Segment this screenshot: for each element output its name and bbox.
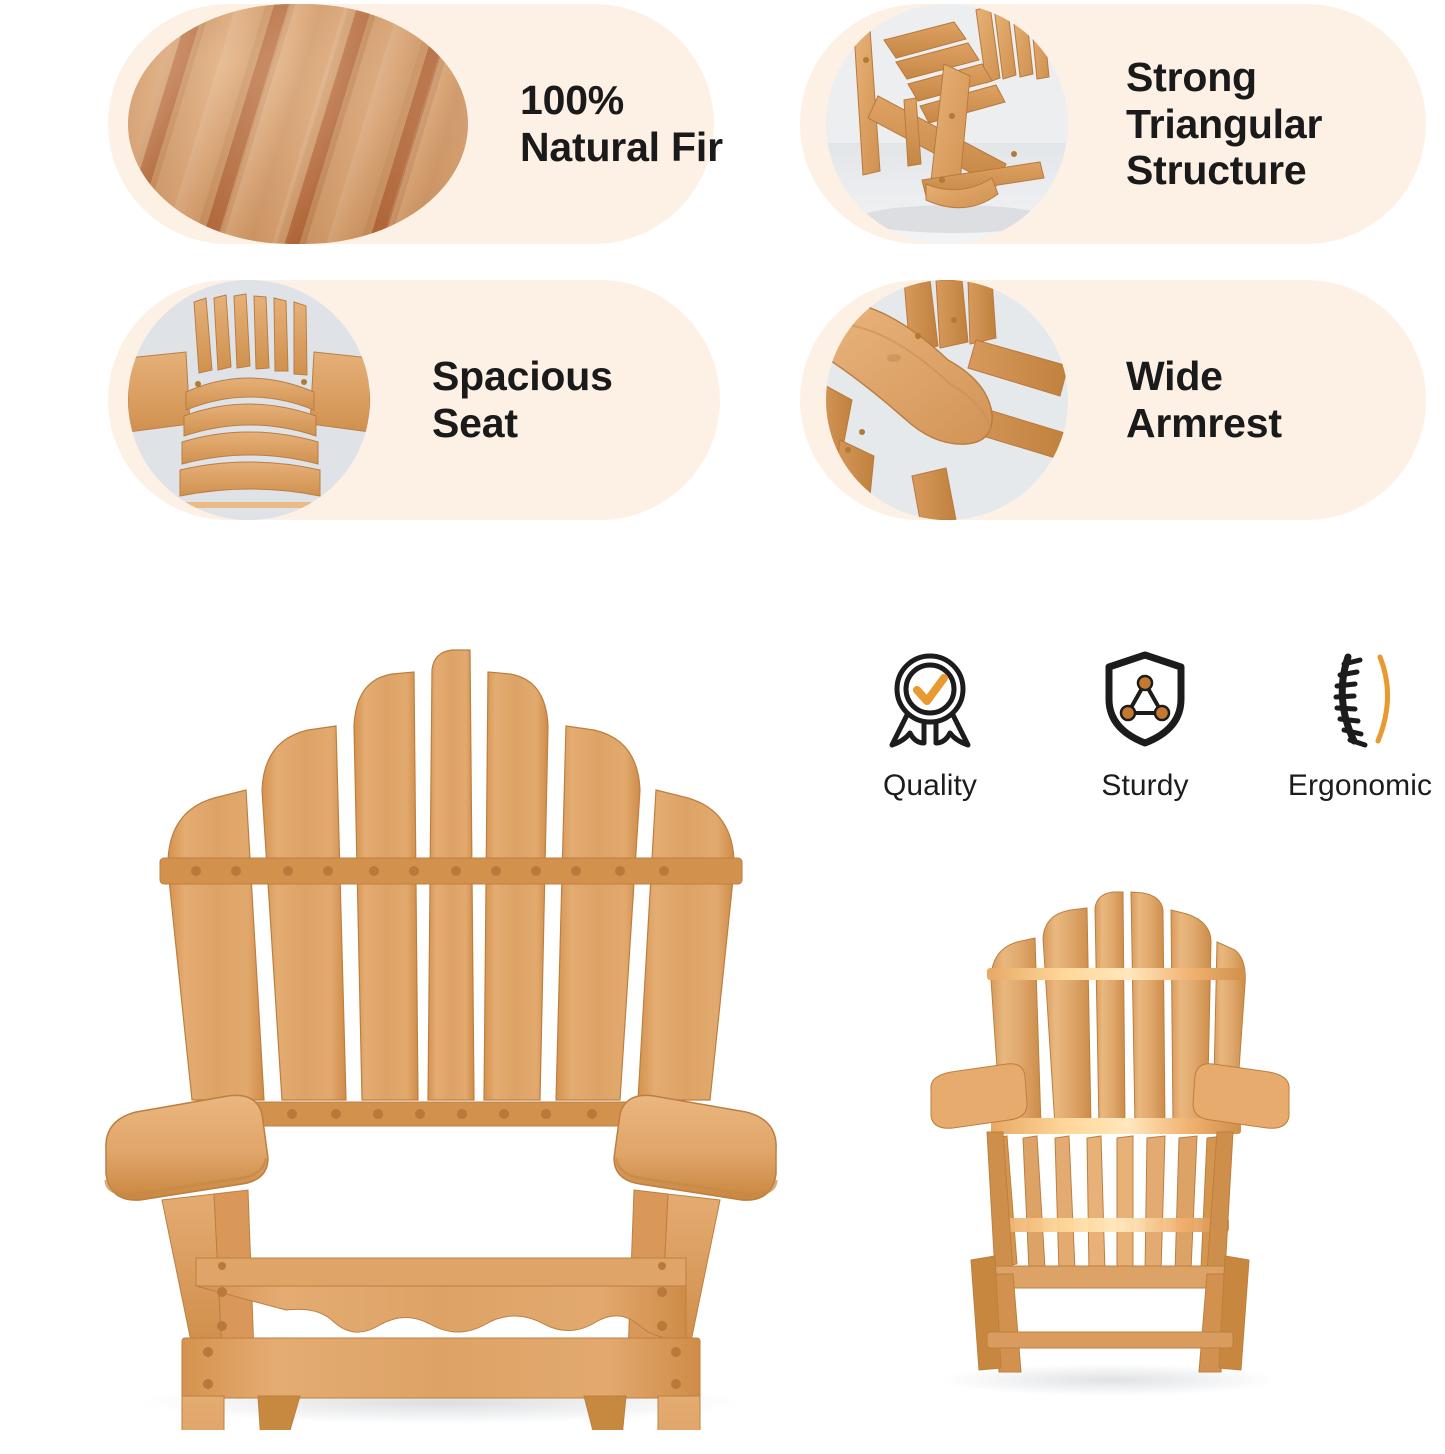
award-rosette-check-icon [878,645,982,753]
badge-sturdy: Sturdy [1055,645,1235,803]
badge-label-sturdy: Sturdy [1101,769,1188,803]
wood-grain-closeup-image [128,4,468,244]
trust-badges-row: Quality Sturdy [840,645,1445,835]
feature-card-spacious-seat: Spacious Seat [108,280,720,520]
product-image-adirondack-chair-front [96,540,786,1430]
chair-seat-topdown-photo [128,280,370,520]
badge-label-ergonomic: Ergonomic [1288,769,1432,803]
badge-ergonomic: Ergonomic [1270,645,1445,803]
badge-quality: Quality [840,645,1020,803]
shield-triangle-icon [1093,645,1197,753]
feature-card-triangular-structure: Strong Triangular Structure [800,4,1426,244]
feature-highlights-grid: 100% Natural Fir [0,0,1445,530]
chair-armrest-closeup-photo [826,280,1068,520]
feature-card-wide-armrest: Wide Armrest [800,280,1426,520]
feature-label-wide-armrest: Wide Armrest [1126,353,1282,446]
product-image-adirondack-chair-rear [895,880,1325,1400]
feature-label-natural-fir: 100% Natural Fir [520,77,723,170]
chair-folded-side-photo [826,4,1068,244]
badge-label-quality: Quality [883,769,977,803]
feature-label-triangular-structure: Strong Triangular Structure [1126,54,1322,194]
spine-curve-icon [1308,645,1412,753]
feature-label-spacious-seat: Spacious Seat [432,353,613,446]
